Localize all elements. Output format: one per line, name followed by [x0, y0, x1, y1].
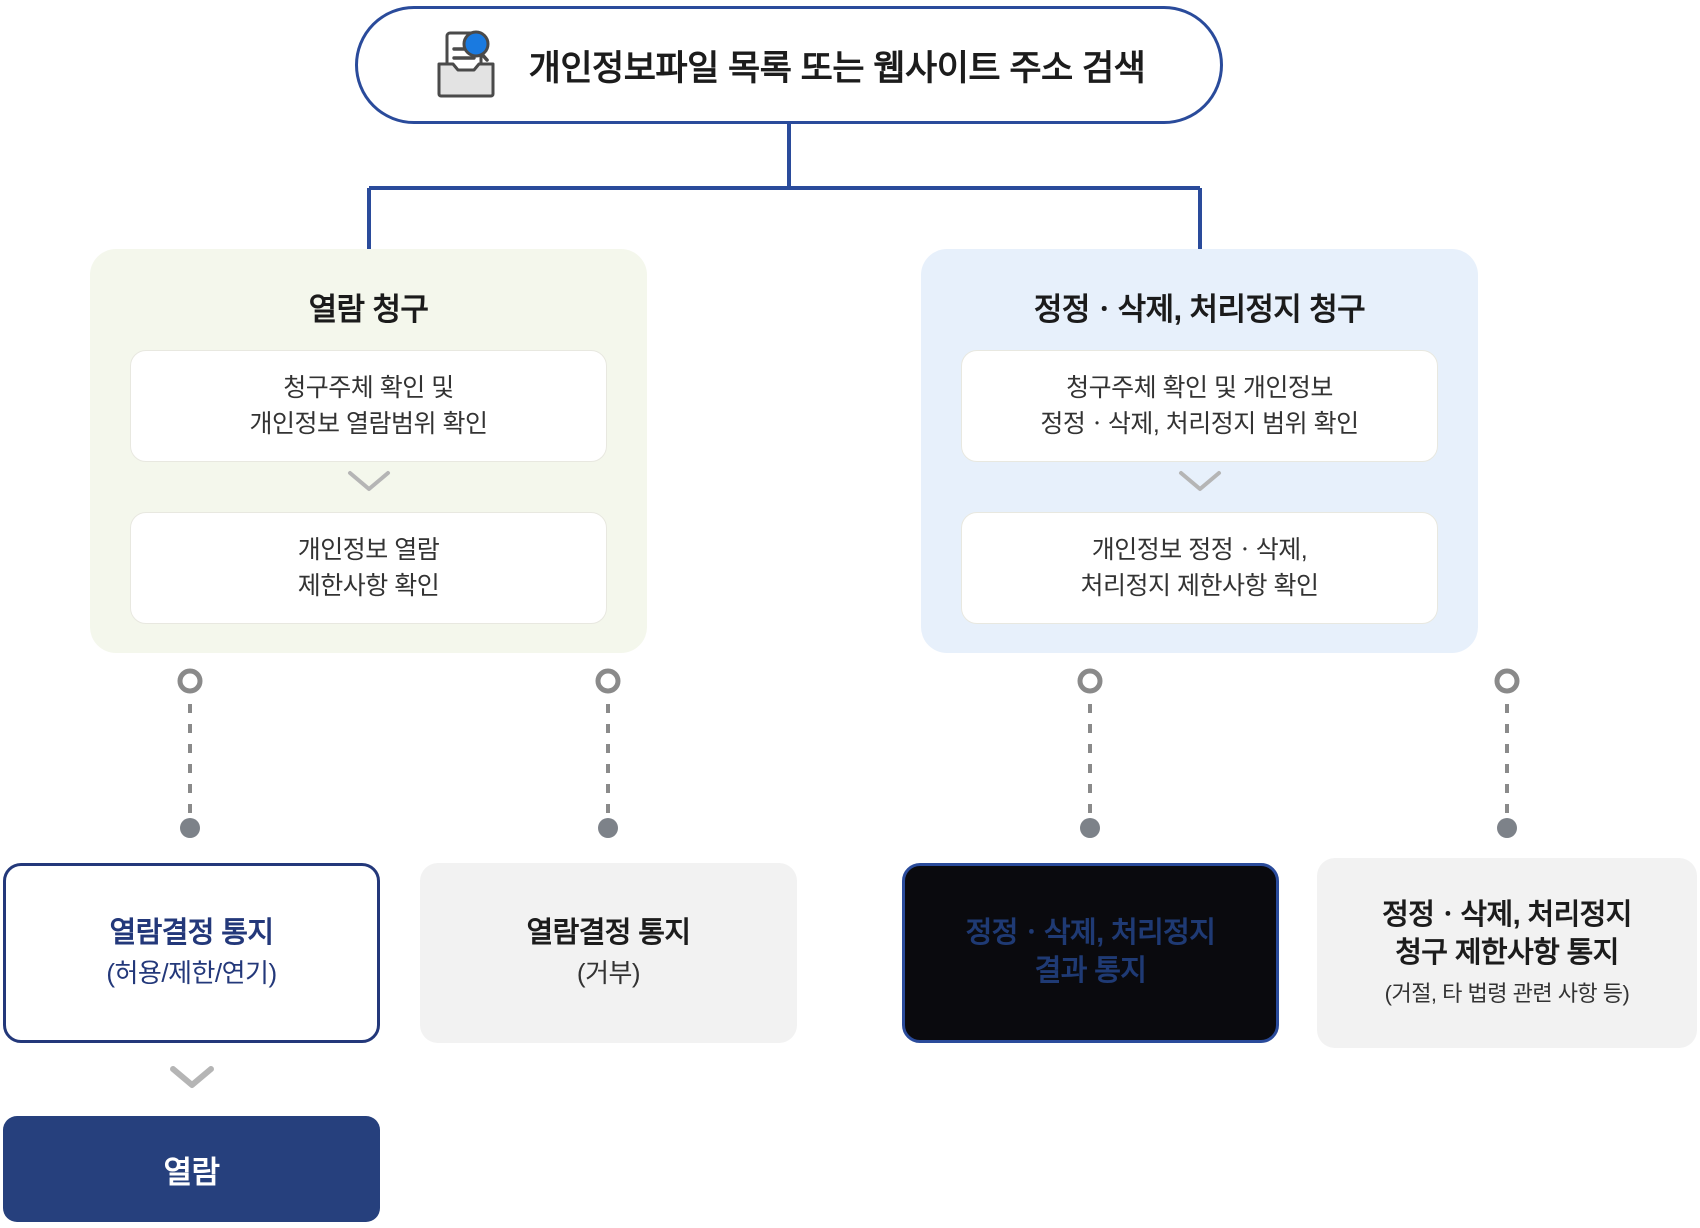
result-box-view-decision-allow[interactable]: 열람결정 통지 (허용/제한/연기)	[3, 863, 380, 1043]
result-title-line2: 청구 제한사항 통지	[1395, 935, 1619, 973]
branch-panel-view-request: 열람 청구 청구주체 확인 및 개인정보 열람범위 확인 개인정보 열람 제한사…	[90, 249, 647, 653]
step-card-correction-2: 개인정보 정정ㆍ삭제, 처리정지 제한사항 확인	[961, 512, 1438, 624]
branch-title-view-request: 열람 청구	[90, 291, 647, 328]
final-outcome-box[interactable]: 열람	[3, 1116, 380, 1222]
result-box-view-decision-reject[interactable]: 열람결정 통지 (거부)	[420, 863, 797, 1043]
chevron-down-icon	[3, 1063, 380, 1091]
result-title-line2: 결과 통지	[1035, 953, 1147, 991]
result-title-line1: 정정ㆍ삭제, 처리정지	[966, 915, 1216, 953]
step-card-view-1-line2: 개인정보 열람범위 확인	[250, 406, 488, 442]
diagram-canvas: 개인정보파일 목록 또는 웹사이트 주소 검색	[0, 0, 1700, 1228]
branch-panel-correction-request: 정정ㆍ삭제, 처리정지 청구 청구주체 확인 및 개인정보 정정ㆍ삭제, 처리정…	[921, 249, 1478, 653]
result-subtitle: (허용/제한/연기)	[106, 956, 276, 991]
search-header-label: 개인정보파일 목록 또는 웹사이트 주소 검색	[529, 40, 1146, 91]
step-card-view-2-line2: 제한사항 확인	[298, 568, 439, 604]
step-card-correction-1-line1: 청구주체 확인 및 개인정보	[1040, 370, 1358, 406]
chevron-down-icon	[921, 468, 1478, 494]
step-card-view-1: 청구주체 확인 및 개인정보 열람범위 확인	[130, 350, 607, 462]
search-header-pill[interactable]: 개인정보파일 목록 또는 웹사이트 주소 검색	[355, 6, 1223, 124]
document-search-icon	[433, 29, 503, 101]
chevron-down-icon	[90, 468, 647, 494]
step-card-view-2-line1: 개인정보 열람	[298, 532, 439, 568]
result-title: 열람결정 통지	[110, 915, 274, 953]
result-subtitle: (거부)	[577, 956, 640, 991]
result-title-line1: 정정ㆍ삭제, 처리정지	[1382, 897, 1632, 935]
final-outcome-label: 열람	[163, 1147, 219, 1192]
result-note: (거절, 타 법령 관련 사항 등)	[1385, 979, 1630, 1009]
result-box-correction-restriction-notice[interactable]: 정정ㆍ삭제, 처리정지 청구 제한사항 통지 (거절, 타 법령 관련 사항 등…	[1317, 858, 1697, 1048]
step-card-view-1-line1: 청구주체 확인 및	[250, 370, 488, 406]
step-card-correction-1: 청구주체 확인 및 개인정보 정정ㆍ삭제, 처리정지 범위 확인	[961, 350, 1438, 462]
step-card-correction-2-line2: 처리정지 제한사항 확인	[1081, 568, 1319, 604]
step-card-view-2: 개인정보 열람 제한사항 확인	[130, 512, 607, 624]
branch-title-correction-request: 정정ㆍ삭제, 처리정지 청구	[921, 291, 1478, 328]
step-card-correction-2-line1: 개인정보 정정ㆍ삭제,	[1081, 532, 1319, 568]
result-title: 열람결정 통지	[527, 915, 691, 953]
result-box-correction-result-notice[interactable]: 정정ㆍ삭제, 처리정지 결과 통지	[902, 863, 1279, 1043]
step-card-correction-1-line2: 정정ㆍ삭제, 처리정지 범위 확인	[1040, 406, 1358, 442]
